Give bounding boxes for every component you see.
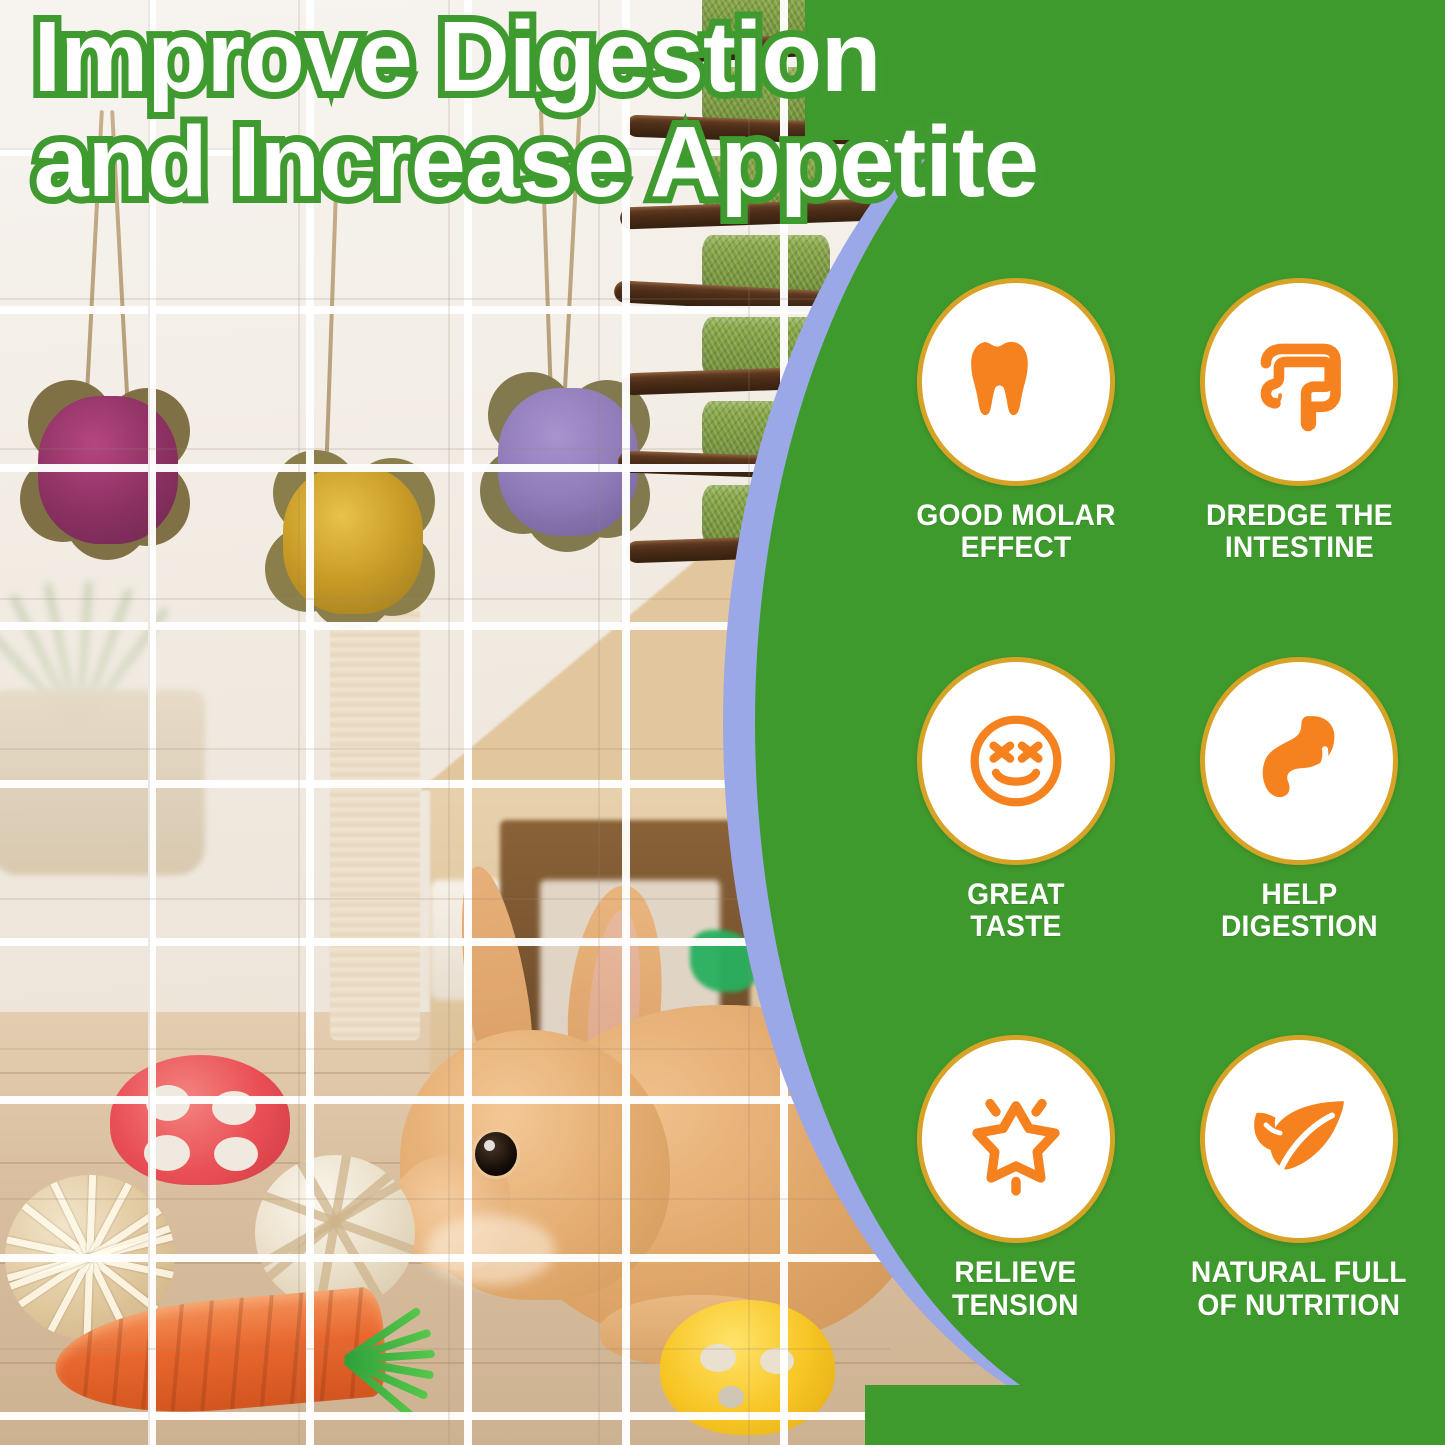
rabbit-eye-glint [484, 1140, 495, 1151]
star-icon [957, 1080, 1075, 1198]
headline-line-1: Improve Digestion [34, 8, 1143, 107]
loofah-slice-yellow [660, 1300, 835, 1435]
tooth-icon [957, 323, 1075, 441]
stomach-icon [1240, 702, 1358, 820]
feature-grid: GOOD MOLAR EFFECT DREDGE THE INTESTINE [880, 278, 1435, 1408]
leaf-icon [1240, 1080, 1358, 1198]
feature-badge [1200, 1035, 1398, 1243]
feature-label: RELIEVE TENSION [952, 1257, 1079, 1322]
loofah-slice-pink [110, 1055, 290, 1185]
feature-badge [917, 657, 1115, 865]
feature-label: HELP DIGESTION [1221, 879, 1378, 944]
feature-badge [1200, 657, 1398, 865]
page-title: Improve Digestion and Increase Appetite [34, 8, 1143, 212]
feature-great-taste: GREAT TASTE [880, 657, 1152, 1030]
smiley-icon [957, 702, 1075, 820]
feature-badge [917, 278, 1115, 486]
carrot-leaves [345, 1290, 485, 1410]
feature-help-digestion: HELP DIGESTION [1164, 657, 1436, 1030]
intestine-icon [1240, 323, 1358, 441]
feature-good-molar-effect: GOOD MOLAR EFFECT [880, 278, 1152, 651]
headline-line-2: and Increase Appetite [34, 113, 1143, 212]
feature-natural-full-of-nutrition: NATURAL FULL OF NUTRITION [1164, 1035, 1436, 1408]
feature-relieve-tension: RELIEVE TENSION [880, 1035, 1152, 1408]
feature-dredge-the-intestine: DREDGE THE INTESTINE [1164, 278, 1436, 651]
feature-label: DREDGE THE INTESTINE [1206, 500, 1393, 565]
feature-label: GREAT TASTE [967, 879, 1065, 944]
rabbit-eye [475, 1132, 517, 1176]
woven-grass-ball [255, 1155, 415, 1310]
feature-label: GOOD MOLAR EFFECT [916, 500, 1115, 565]
basket [0, 690, 205, 875]
product-feature-image: GOOD MOLAR EFFECT DREDGE THE INTESTINE [0, 0, 1445, 1445]
feature-badge [917, 1035, 1115, 1243]
feature-badge [1200, 278, 1398, 486]
feature-label: NATURAL FULL OF NUTRITION [1191, 1257, 1407, 1322]
rabbit-cheek-highlight [425, 1215, 555, 1285]
